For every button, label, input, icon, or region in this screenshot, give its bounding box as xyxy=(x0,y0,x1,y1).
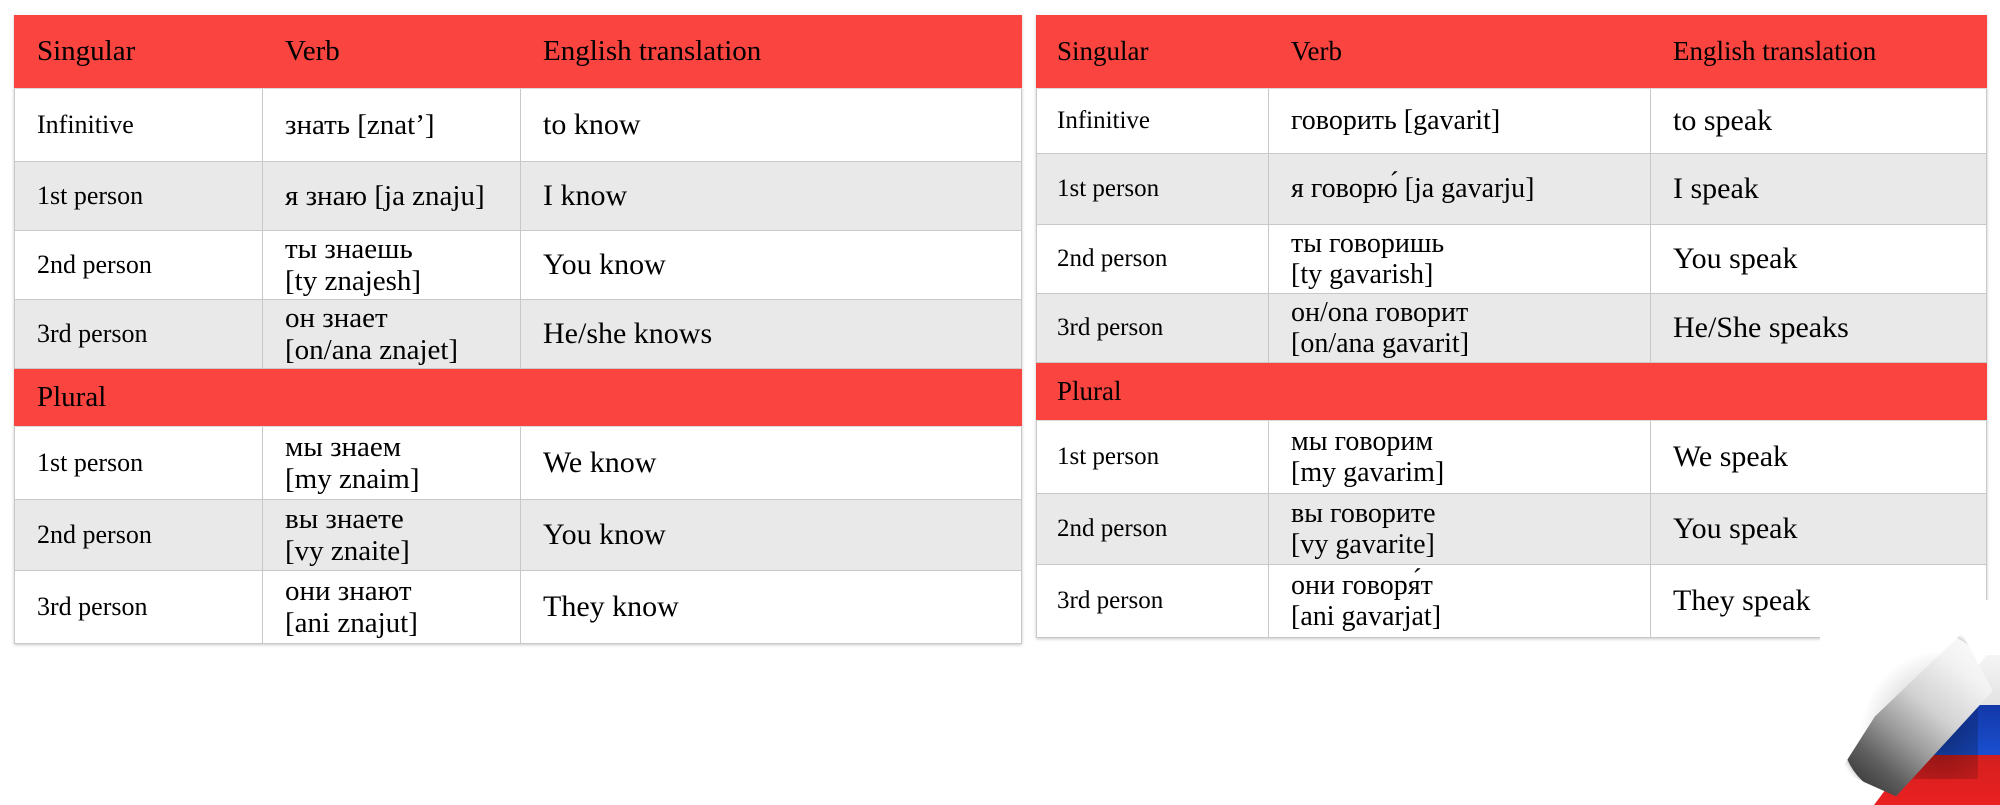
cell-person: 2nd person xyxy=(1037,225,1269,294)
verb-line-1: он/ona говорит xyxy=(1291,297,1642,328)
table-row: 1st person я говорю́ [ja gavarju] I spea… xyxy=(1037,154,1987,225)
cell-english: He/She speaks xyxy=(1651,294,1987,363)
cell-person: 2nd person xyxy=(15,231,263,300)
verb-line-2: [ty znajesh] xyxy=(285,265,512,297)
cell-verb: ты говоришь [ty gavarish] xyxy=(1269,225,1651,294)
table-row: 1st person мы знаем [my znaim] We know xyxy=(15,427,1022,500)
cell-verb: мы говорим [my gavarim] xyxy=(1269,421,1651,494)
conjugation-table-govorit: Singular Verb English translation Infini… xyxy=(1036,15,1987,638)
header-verb: Verb xyxy=(263,16,521,89)
table-row: Infinitive говорить [gavarit] to speak xyxy=(1037,89,1987,154)
verb-line-1: они говоря́т xyxy=(1291,570,1642,601)
cell-verb: вы говорите [vy gavarite] xyxy=(1269,494,1651,565)
flag-band-white xyxy=(1870,655,2000,705)
verb-line-1: я знаю [ja znaju] xyxy=(285,180,512,212)
cell-person: Infinitive xyxy=(15,89,263,162)
cell-person: 3rd person xyxy=(1037,565,1269,638)
cell-person: 3rd person xyxy=(15,300,263,369)
table-header-row-plural: Plural xyxy=(15,369,1022,427)
header-plural-spacer-english xyxy=(521,369,1022,427)
table-header-row-singular: Singular Verb English translation xyxy=(15,16,1022,89)
cell-person: 2nd person xyxy=(15,500,263,571)
verb-line-2: [ani znajut] xyxy=(285,607,512,639)
header-plural-spacer-verb xyxy=(263,369,521,427)
cell-person: 1st person xyxy=(1037,421,1269,494)
verb-line-1: они знают xyxy=(285,575,512,607)
slide-canvas: Singular Verb English translation Infini… xyxy=(0,0,2000,805)
table-row: Infinitive знать [znat’] to know xyxy=(15,89,1022,162)
table-row: 2nd person вы знаете [vy znaite] You kno… xyxy=(15,500,1022,571)
flag-band-blue xyxy=(1870,705,2000,755)
header-english: English translation xyxy=(1651,16,1987,89)
cell-english: You speak xyxy=(1651,225,1987,294)
verb-line-1: вы знаете xyxy=(285,503,512,535)
cell-english: I know xyxy=(521,162,1022,231)
page-curl-icon xyxy=(1839,629,1995,799)
header-person: Singular xyxy=(1037,16,1269,89)
verb-line-2: [my gavarim] xyxy=(1291,457,1642,488)
page-curl-shadow xyxy=(1858,649,1978,779)
table-row: 3rd person они знают [ani znajut] They k… xyxy=(15,571,1022,644)
cell-verb: он/ona говорит [on/ana gavarit] xyxy=(1269,294,1651,363)
cell-person: Infinitive xyxy=(1037,89,1269,154)
cell-verb: они говоря́т [ani gavarjat] xyxy=(1269,565,1651,638)
verb-line-1: мы говорим xyxy=(1291,426,1642,457)
cell-english: They know xyxy=(521,571,1022,644)
verb-line-1: он знает xyxy=(285,302,512,334)
cell-verb: они знают [ani znajut] xyxy=(263,571,521,644)
verb-line-1: я говорю́ [ja gavarju] xyxy=(1291,173,1642,204)
verb-line-1: говорить [gavarit] xyxy=(1291,105,1642,136)
header-english: English translation xyxy=(521,16,1022,89)
verb-line-2: [on/ana gavarit] xyxy=(1291,328,1642,359)
table-row: 1st person мы говорим [my gavarim] We sp… xyxy=(1037,421,1987,494)
cell-english: I speak xyxy=(1651,154,1987,225)
cell-person: 2nd person xyxy=(1037,494,1269,565)
verb-line-1: мы знаем xyxy=(285,431,512,463)
cell-verb: знать [znat’] xyxy=(263,89,521,162)
table-row: 3rd person он знает [on/ana znajet] He/s… xyxy=(15,300,1022,369)
cell-english: to speak xyxy=(1651,89,1987,154)
cell-english: We speak xyxy=(1651,421,1987,494)
table-row: 2nd person ты говоришь [ty gavarish] You… xyxy=(1037,225,1987,294)
cell-verb: мы знаем [my znaim] xyxy=(263,427,521,500)
table-row: 1st person я знаю [ja znaju] I know xyxy=(15,162,1022,231)
cell-verb: я говорю́ [ja gavarju] xyxy=(1269,154,1651,225)
table-header-row-plural: Plural xyxy=(1037,363,1987,421)
table-row: 3rd person он/ona говорит [on/ana gavari… xyxy=(1037,294,1987,363)
verb-line-1: ты говоришь xyxy=(1291,228,1642,259)
table-row: 2nd person ты знаешь [ty znajesh] You kn… xyxy=(15,231,1022,300)
cell-english: to know xyxy=(521,89,1022,162)
cell-english: They speak xyxy=(1651,565,1987,638)
flag-band-red xyxy=(1870,755,2000,805)
verb-line-2: [on/ana znajet] xyxy=(285,334,512,366)
cell-english: He/she knows xyxy=(521,300,1022,369)
cell-person: 3rd person xyxy=(1037,294,1269,363)
header-verb: Verb xyxy=(1269,16,1651,89)
header-plural: Plural xyxy=(15,369,263,427)
cell-english: You know xyxy=(521,500,1022,571)
table-row: 3rd person они говоря́т [ani gavarjat] T… xyxy=(1037,565,1987,638)
table-row: 2nd person вы говорите [vy gavarite] You… xyxy=(1037,494,1987,565)
cell-verb: он знает [on/ana znajet] xyxy=(263,300,521,369)
cell-person: 1st person xyxy=(1037,154,1269,225)
cell-verb: я знаю [ja znaju] xyxy=(263,162,521,231)
cell-english: You know xyxy=(521,231,1022,300)
cell-english: We know xyxy=(521,427,1022,500)
russian-flag-icon xyxy=(1870,655,2000,805)
cell-verb: вы знаете [vy znaite] xyxy=(263,500,521,571)
cell-person: 1st person xyxy=(15,162,263,231)
verb-line-2: [ty gavarish] xyxy=(1291,259,1642,290)
cell-person: 1st person xyxy=(15,427,263,500)
header-plural-spacer-english xyxy=(1651,363,1987,421)
cell-verb: ты знаешь [ty znajesh] xyxy=(263,231,521,300)
header-person: Singular xyxy=(15,16,263,89)
table-header-row-singular: Singular Verb English translation xyxy=(1037,16,1987,89)
verb-line-2: [ani gavarjat] xyxy=(1291,601,1642,632)
conjugation-table-znat: Singular Verb English translation Infini… xyxy=(14,15,1022,644)
header-plural: Plural xyxy=(1037,363,1269,421)
verb-line-1: вы говорите xyxy=(1291,498,1642,529)
verb-line-1: знать [znat’] xyxy=(285,109,512,141)
verb-line-2: [vy znaite] xyxy=(285,535,512,567)
header-plural-spacer-verb xyxy=(1269,363,1651,421)
verb-line-1: ты знаешь xyxy=(285,233,512,265)
verb-line-2: [my znaim] xyxy=(285,463,512,495)
cell-english: You speak xyxy=(1651,494,1987,565)
verb-line-2: [vy gavarite] xyxy=(1291,529,1642,560)
cell-person: 3rd person xyxy=(15,571,263,644)
cell-verb: говорить [gavarit] xyxy=(1269,89,1651,154)
